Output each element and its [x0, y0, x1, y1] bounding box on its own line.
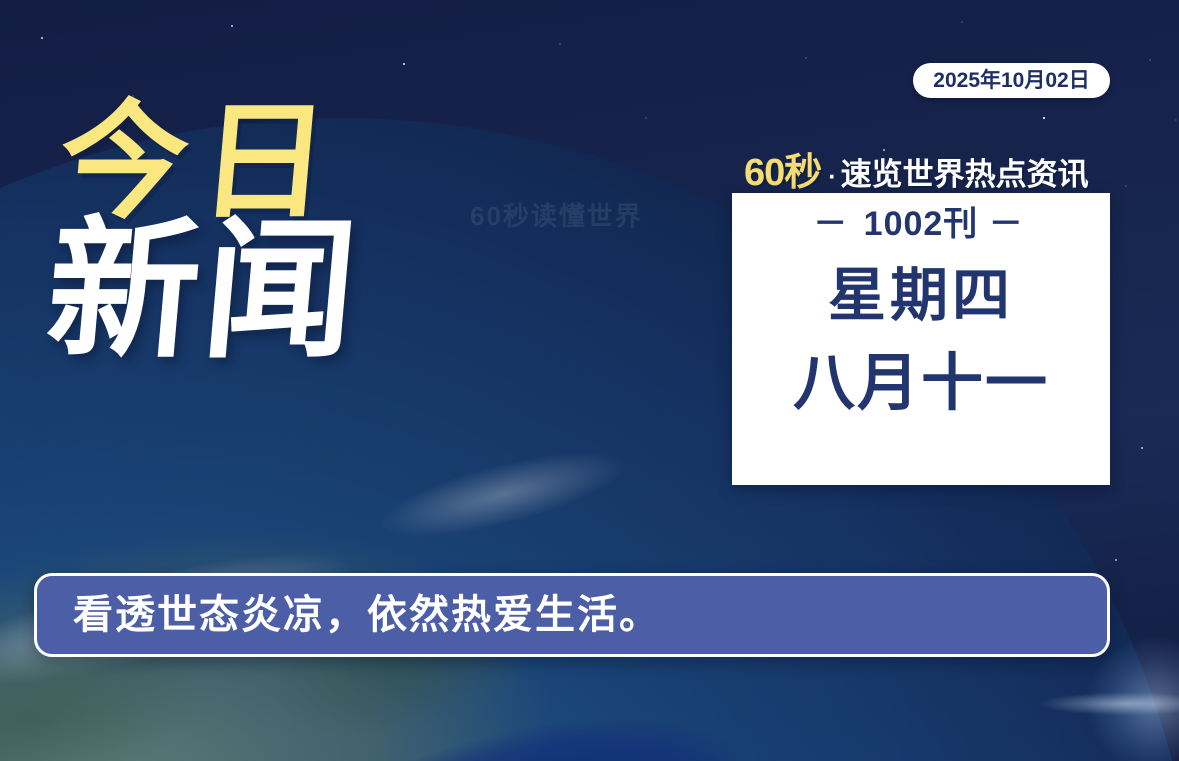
- quote-bar: 看透世态炎凉，依然热爱生活。: [34, 573, 1110, 657]
- tagline-separator: ·: [828, 163, 836, 192]
- quote-text: 看透世态炎凉，依然热爱生活。: [73, 595, 661, 635]
- issue-dash-left: －: [813, 205, 853, 243]
- tagline-seconds: 60秒: [744, 141, 821, 196]
- news-poster: 60秒读懂世界 2025年10月02日 今日 新闻 60秒 · 速览世界热点资讯…: [0, 0, 1179, 761]
- date-badge-label: 2025年10月02日: [933, 70, 1089, 91]
- weekday-label: 星期四: [828, 267, 1014, 325]
- issue-number: 1002刊: [864, 205, 979, 243]
- tagline-text: 速览世界热点资讯: [841, 149, 1089, 194]
- issue-dash-right: －: [989, 205, 1029, 243]
- issue-line: － 1002刊 －: [813, 207, 1029, 241]
- date-badge: 2025年10月02日: [913, 63, 1110, 98]
- tagline: 60秒 · 速览世界热点资讯: [744, 141, 1089, 196]
- brand-title-line2: 新闻: [41, 215, 478, 367]
- lunar-date-label: 八月十一: [793, 353, 1049, 415]
- info-card: － 1002刊 － 星期四 八月十一: [732, 193, 1110, 485]
- brand-title: 今日 新闻: [52, 98, 472, 367]
